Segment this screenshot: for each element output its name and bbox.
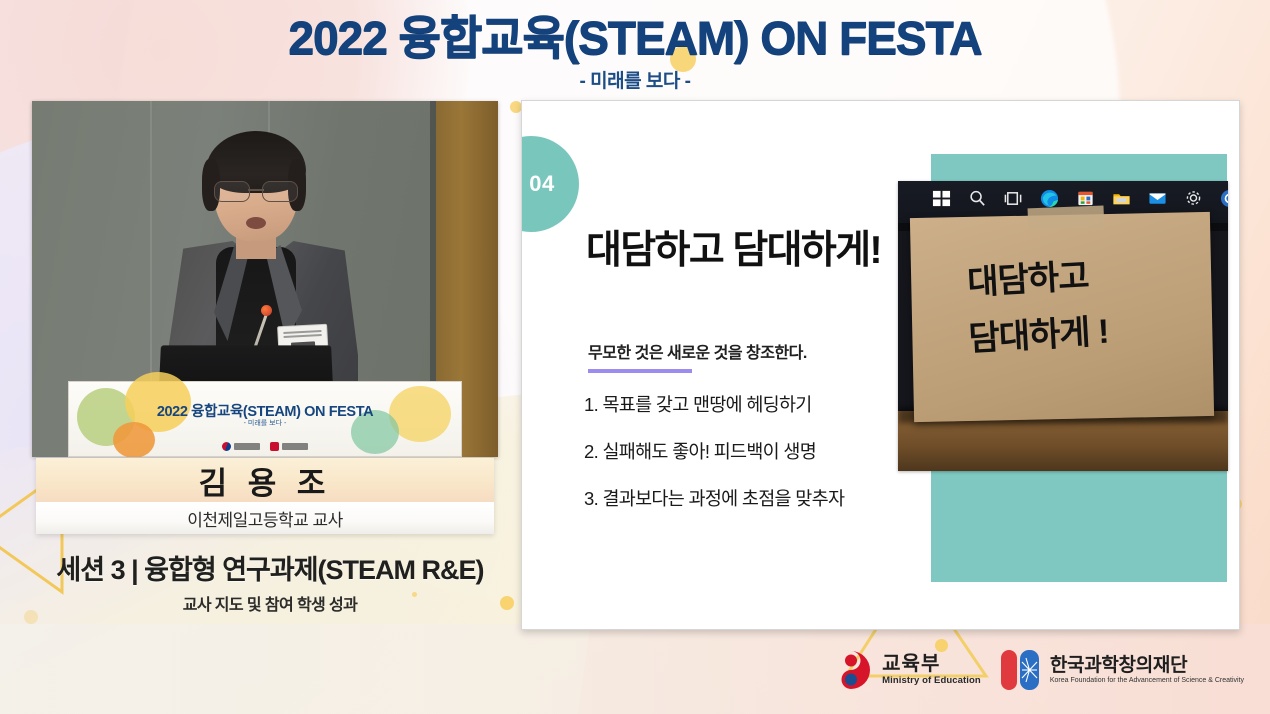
speaker-mouth: [246, 217, 266, 229]
slide-bullet-list: 1. 목표를 갖고 맨땅에 헤딩하기 2. 실패해도 좋아! 피드백이 생명 3…: [584, 391, 844, 532]
logo-kofac: 한국과학창의재단 Korea Foundation for the Advanc…: [1001, 648, 1244, 692]
podium-laptop: [159, 345, 333, 385]
slide-number-label: 04: [529, 171, 554, 197]
session-title: 세션 3 | 융합형 연구과제(STEAM R&E): [20, 548, 520, 587]
handwritten-paper: 대담하고 담대하게 !: [910, 212, 1214, 422]
task-view-icon: [1004, 189, 1023, 208]
event-header: 2022 융합교육(STEAM) ON FESTA - 미래를 보다 -: [0, 0, 1270, 96]
speaker-name: 김 용 조: [199, 458, 332, 503]
logo-label-en: Korea Foundation for the Advancement of …: [1050, 677, 1244, 684]
taeguk-icon: [829, 648, 873, 692]
event-title: 2022 융합교육(STEAM) ON FESTA: [0, 0, 1270, 64]
slide-photo: 대담하고 담대하게 !: [898, 181, 1228, 471]
speaker-affiliation: 이천제일고등학교 교사: [187, 506, 343, 531]
logo-label-ko: 한국과학창의재단: [1050, 656, 1244, 677]
slide-heading: 대담하고 담대하게!: [586, 219, 881, 275]
file-explorer-icon: [1112, 189, 1131, 208]
windows-start-icon: [932, 189, 951, 208]
mail-icon: [1148, 189, 1167, 208]
logo-ministry-of-education: 교육부 Ministry of Education: [829, 648, 981, 692]
slide-underline: [588, 369, 692, 373]
microphone-icon: [261, 305, 272, 316]
list-item: 3. 결과보다는 과정에 초점을 맞추자: [584, 485, 844, 511]
settings-gear-icon: [1184, 189, 1203, 208]
podium-banner-logos: [69, 442, 461, 451]
presentation-slide[interactable]: 04 대담하고 담대하게! 무모한 것은 새로운 것을 창조한다. 1. 목표를…: [521, 100, 1240, 630]
logo-label-en: Ministry of Education: [882, 675, 981, 686]
cortana-icon: [1220, 189, 1228, 208]
broadcast-stage: 2022 융합교육(STEAM) ON FESTA - 미래를 보다 -: [0, 0, 1270, 714]
list-item: 1. 목표를 갖고 맨땅에 헤딩하기: [584, 391, 844, 417]
edge-browser-icon: [1040, 189, 1059, 208]
footer-logos: 교육부 Ministry of Education 한국과학창의재단: [829, 648, 1244, 692]
speaker-video-panel[interactable]: 2022 융합교육(STEAM) ON FESTA - 미래를 보다 -: [32, 101, 498, 457]
podium-banner-subtitle: - 미래를 보다 -: [69, 418, 461, 428]
taeguk-icon: [222, 442, 231, 451]
logo-label-ko: 교육부: [882, 654, 981, 675]
session-subtitle: 교사 지도 및 참여 학생 성과: [20, 591, 520, 615]
speaker-nameplate: 김 용 조 이천제일고등학교 교사: [36, 458, 494, 534]
podium-banner: 2022 융합교육(STEAM) ON FESTA - 미래를 보다 -: [68, 381, 462, 457]
speaker-glasses: [214, 181, 298, 201]
slide-lead-text: 무모한 것은 새로운 것을 창조한다.: [588, 339, 807, 363]
tape-strip: [1028, 205, 1105, 230]
event-subtitle: - 미래를 보다 -: [0, 66, 1270, 93]
session-caption: 세션 3 | 융합형 연구과제(STEAM R&E) 교사 지도 및 참여 학생…: [20, 548, 520, 615]
search-icon: [968, 189, 987, 208]
handwriting-line-2: 담대하게 !: [967, 304, 1109, 361]
kofac-icon: [270, 442, 279, 451]
kofac-icon: [1001, 648, 1041, 692]
slide-number-badge: 04: [521, 136, 579, 232]
list-item: 2. 실패해도 좋아! 피드백이 생명: [584, 438, 844, 464]
handwriting-line-1: 대담하고: [966, 248, 1090, 304]
